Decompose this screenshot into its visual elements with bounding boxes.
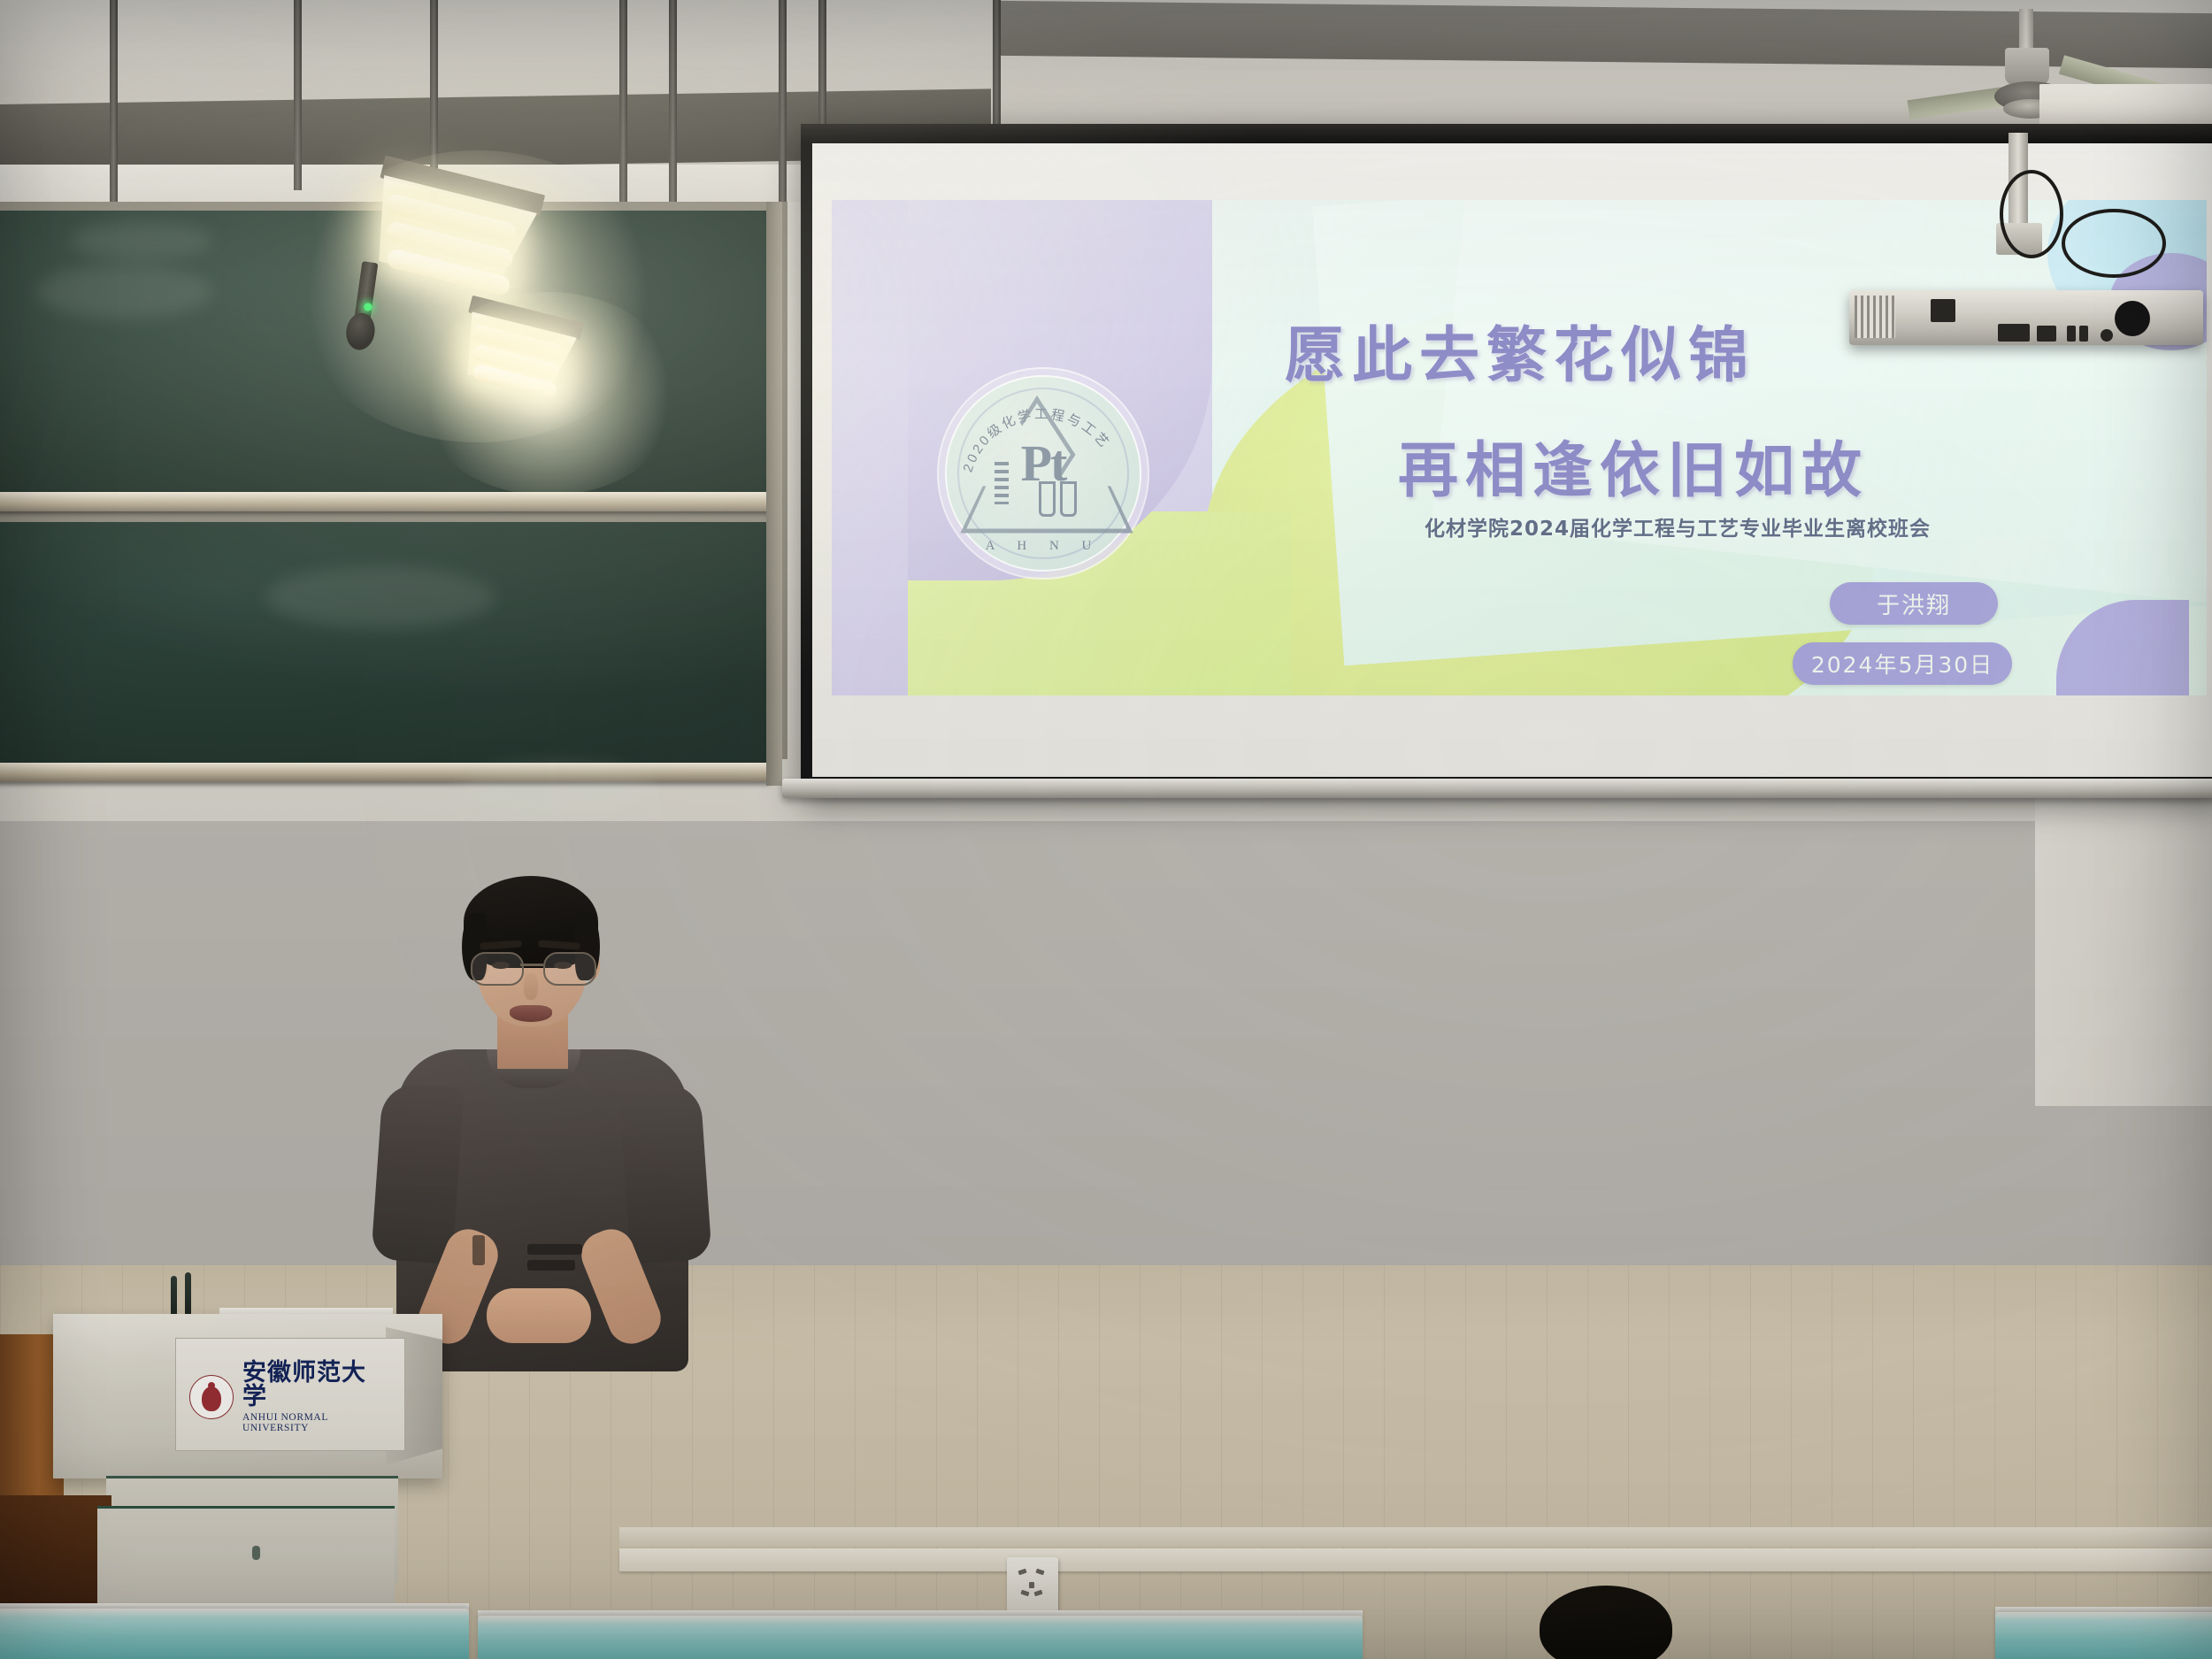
hanger-rod	[619, 0, 627, 221]
left-wood-panel	[0, 1495, 111, 1610]
hanger-rod	[294, 0, 302, 190]
presenter-hands	[487, 1288, 591, 1343]
blackboard-edge	[766, 202, 782, 786]
presentation-slide: 2020级化学工程与工艺 Pt A H N U 愿此去繁花似锦 再相逢依旧如故 …	[832, 200, 2207, 695]
grey-cabinet	[97, 1506, 395, 1613]
slide-bg-lavender-strip	[832, 200, 908, 695]
podium-university-logo: 安徽师范大学 ANHUI NORMAL UNIVERSITY	[189, 1371, 389, 1423]
projector-cable	[2062, 209, 2166, 278]
chalk-tray	[0, 763, 770, 782]
slide-subtitle: 化材学院2024届化学工程与工艺专业毕业生离校班会	[1425, 511, 1931, 541]
cabinet-handle	[252, 1546, 260, 1560]
slide-date-badge: 2024年5月30日	[1793, 642, 2012, 685]
presenter-sleeve	[618, 1082, 712, 1264]
wall-power-outlet	[1007, 1557, 1058, 1612]
university-name-en: ANHUI NORMAL UNIVERSITY	[242, 1413, 389, 1433]
classroom-photo: 2020级化学工程与工艺 Pt A H N U 愿此去繁花似锦 再相逢依旧如故 …	[0, 0, 2212, 1659]
badge-test-tube	[1060, 481, 1077, 517]
student-desk	[1995, 1612, 2212, 1659]
screen-top-bar	[801, 124, 2212, 143]
hanger-rod	[779, 0, 787, 221]
hanger-rod	[110, 0, 118, 221]
student-desk	[478, 1616, 1363, 1659]
blackboard-lower	[0, 522, 770, 779]
badge-test-tube	[1039, 481, 1056, 517]
student-desk	[0, 1609, 469, 1659]
slide-title-line2: 再相逢依旧如故	[1398, 421, 1869, 509]
projector-cable	[2000, 170, 2063, 258]
wall-trim	[619, 1548, 2212, 1571]
chalk-tray	[0, 492, 779, 511]
university-seal-icon	[189, 1375, 234, 1419]
slide-title-line1: 愿此去繁花似锦	[1285, 306, 1755, 394]
slide-presenter-name-badge: 于洪翔	[1830, 582, 1998, 625]
ceiling-projector	[1849, 290, 2203, 345]
screen-bottom-bar	[782, 779, 2212, 798]
wall-trim	[619, 1527, 2212, 1547]
badge-bottom-text: A H N U	[947, 539, 1140, 554]
presenter-person	[363, 876, 717, 1371]
university-name-cn: 安徽师范大学	[242, 1361, 389, 1409]
class-badge-logo: 2020级化学工程与工艺 Pt A H N U	[945, 375, 1141, 572]
presenter-mouth	[510, 1005, 552, 1022]
